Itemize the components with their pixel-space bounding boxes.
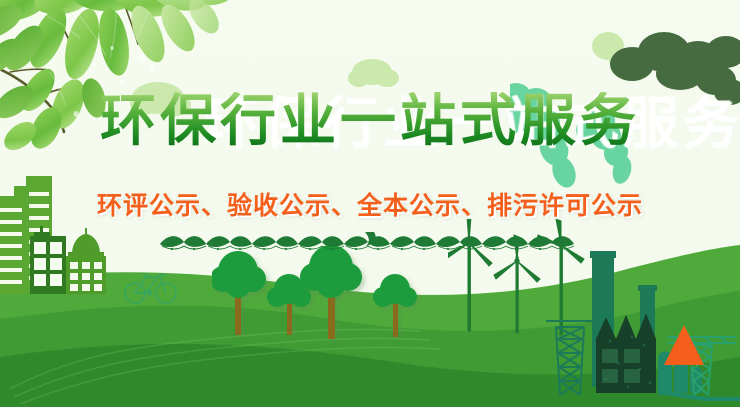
building-icon — [30, 226, 66, 294]
tree-icon — [373, 274, 417, 337]
vine-divider-icon — [160, 228, 580, 254]
main-title: 环保行业一站式服务 — [100, 92, 640, 151]
bicycle-icon — [122, 267, 180, 307]
building-icon — [66, 228, 106, 294]
banner-title-area: 环保行业一站式服务 环保行业一站式服务 — [0, 92, 740, 151]
banner-subtitle-area: 环评公示、验收公示、全本公示、排污许可公示 — [0, 186, 740, 222]
eco-banner: 环保行业一站式服务 环保行业一站式服务 环评公示、验收公示、全本公示、排污许可公… — [0, 0, 740, 407]
crane-icon — [546, 321, 594, 395]
sub-title: 环评公示、验收公示、全本公示、排污许可公示 — [97, 186, 643, 222]
tree-icon — [212, 251, 266, 335]
factory-building — [596, 313, 656, 393]
pipe — [658, 393, 740, 399]
